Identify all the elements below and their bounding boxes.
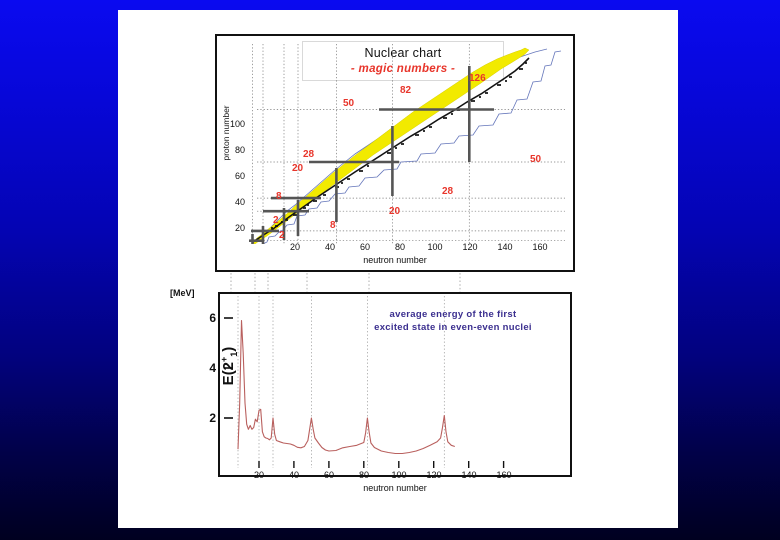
nuclear-y-tick-60: 60 <box>223 171 245 181</box>
magic-label-proton-20: 20 <box>292 163 303 174</box>
nuclear-y-tick-40: 40 <box>223 197 245 207</box>
energy-y-tick-4: 4 <box>200 361 216 375</box>
magic-label-neutron-2: 2 <box>279 230 285 241</box>
slide-canvas: Nuclear chart - magic numbers - proton n… <box>118 10 678 528</box>
magic-label-proton-8: 8 <box>276 191 282 202</box>
magic-label-proton-126: 126 <box>469 73 486 84</box>
energy-y-tick-6: 6 <box>200 311 216 325</box>
magic-label-neutron-28: 28 <box>442 186 453 197</box>
nuclear-y-tick-80: 80 <box>223 145 245 155</box>
energy-x-tick-140: 140 <box>456 470 482 480</box>
energy-y-ticks <box>224 318 233 418</box>
energy-x-tick-20: 20 <box>246 470 272 480</box>
energy-x-tick-100: 100 <box>386 470 412 480</box>
energy-x-ticks <box>259 461 504 468</box>
energy-y-tick-2: 2 <box>200 411 216 425</box>
nuclear-chart-plot <box>249 44 569 244</box>
energy-x-tick-40: 40 <box>281 470 307 480</box>
energy-chart-x-axis-label: neutron number <box>220 483 570 493</box>
nuclear-chart-y-axis-label: proton number <box>221 94 231 172</box>
energy-chart-panel: [MeV] E(2+1) 6 4 2 average energy of the… <box>218 292 572 477</box>
energy-x-tick-80: 80 <box>351 470 377 480</box>
energy-chart-plot <box>224 296 570 474</box>
energy-unit-label: [MeV] <box>170 288 195 298</box>
magic-label-neutron-20: 20 <box>389 206 400 217</box>
magic-label-neutron-50: 50 <box>530 154 541 165</box>
nuclear-y-tick-100: 100 <box>223 119 245 129</box>
nuclear-chart-panel: Nuclear chart - magic numbers - proton n… <box>215 34 575 272</box>
energy-x-tick-120: 120 <box>421 470 447 480</box>
magic-label-proton-50: 50 <box>343 98 354 109</box>
nuclear-chart-x-axis-label: neutron number <box>217 255 573 265</box>
neutron-dripline-contour <box>263 51 561 244</box>
energy-x-tick-160: 160 <box>491 470 517 480</box>
energy-x-tick-60: 60 <box>316 470 342 480</box>
nuclear-y-tick-20: 20 <box>223 223 245 233</box>
magic-label-proton-82: 82 <box>400 85 411 96</box>
e2plus-curve <box>238 321 455 454</box>
magic-label-proton-2: 2 <box>273 215 279 226</box>
magic-label-neutron-8: 8 <box>330 220 336 231</box>
magic-label-proton-28: 28 <box>303 149 314 160</box>
energy-magic-guides <box>238 296 444 468</box>
